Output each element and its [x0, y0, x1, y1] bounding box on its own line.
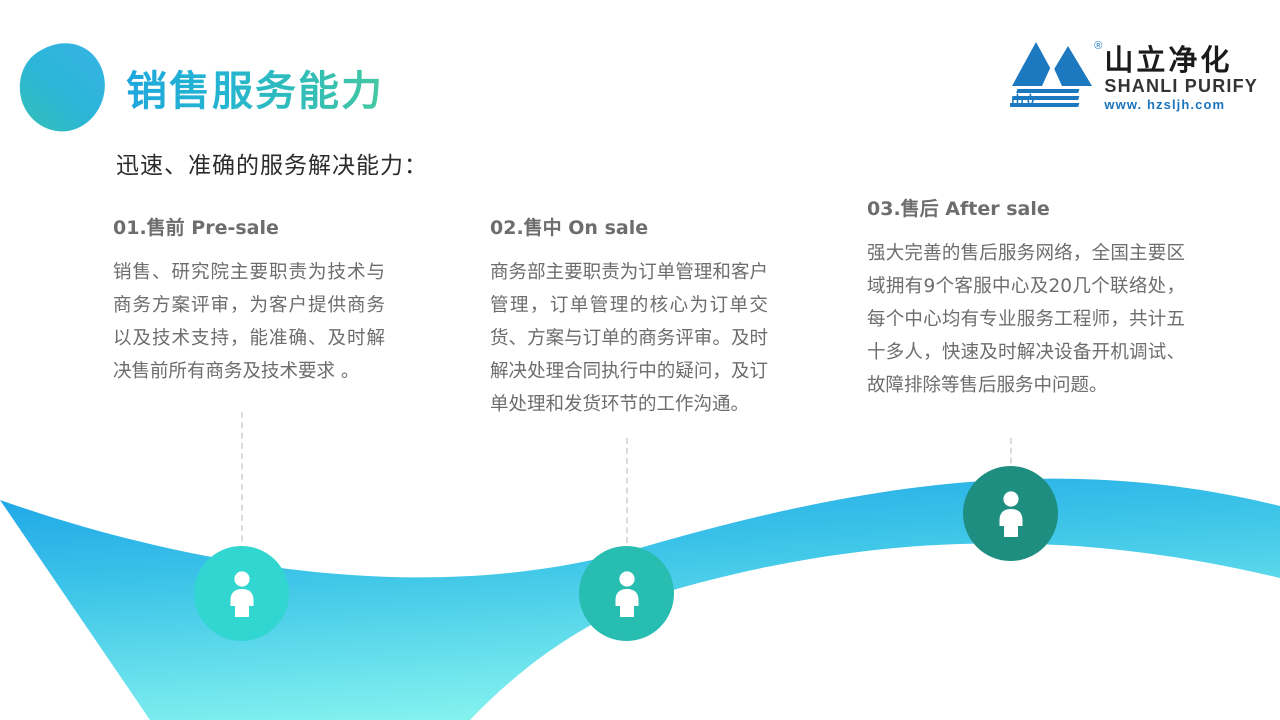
step-node-presale — [194, 546, 289, 641]
person-icon — [991, 490, 1031, 538]
logo-name-en: SHANLI PURIFY — [1104, 77, 1258, 95]
logo-website-url: www. hzsljh.com — [1104, 98, 1258, 111]
content-column-presale: 01.售前 Pre-sale 销售、研究院主要职责为技术与商务方案评审，为客户提… — [113, 213, 385, 388]
svg-text:山立: 山立 — [1011, 93, 1037, 108]
page-title: 销售服务能力 — [126, 57, 384, 117]
logo-name-cn: 山立净化 — [1104, 46, 1258, 75]
column-body-text: 商务部主要职责为订单管理和客户管理，订单管理的核心为订单交货、方案与订单的商务评… — [490, 256, 768, 421]
connector-line-1 — [241, 412, 243, 562]
person-icon — [607, 570, 647, 618]
content-column-aftersale: 03.售后 After sale 强大完善的售后服务网络，全国主要区域拥有9个客… — [867, 194, 1185, 402]
column-body-text: 强大完善的售后服务网络，全国主要区域拥有9个客服中心及20几个联络处，每个中心均… — [867, 237, 1185, 402]
company-logo: 山立 ® 山立净化 SHANLI PURIFY www. hzsljh.com — [1010, 38, 1258, 111]
column-heading: 02.售中 On sale — [490, 213, 768, 240]
connector-line-2 — [626, 438, 628, 563]
column-body-text: 销售、研究院主要职责为技术与商务方案评审，为客户提供商务以及技术支持，能准确、及… — [113, 256, 385, 388]
person-icon — [222, 570, 262, 618]
blob-decoration-icon — [17, 42, 109, 134]
step-node-onsale — [579, 546, 674, 641]
mountain-waves-logo-icon: 山立 ® — [1010, 38, 1096, 108]
slide-canvas: 销售服务能力 山立 ® 山立净化 SHANLI PURIFY www. hzsl… — [0, 0, 1280, 720]
column-heading: 01.售前 Pre-sale — [113, 213, 385, 240]
step-node-aftersale — [963, 466, 1058, 561]
registered-trademark-icon: ® — [1094, 40, 1102, 52]
content-column-onsale: 02.售中 On sale 商务部主要职责为订单管理和客户管理，订单管理的核心为… — [490, 213, 768, 421]
column-heading: 03.售后 After sale — [867, 194, 1185, 221]
section-subtitle: 迅速、准确的服务解决能力： — [116, 146, 428, 180]
